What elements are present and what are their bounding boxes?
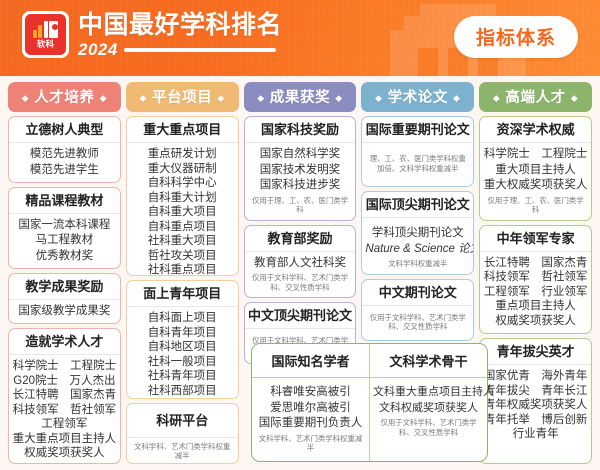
group-item: 文科权威奖项获奖人 bbox=[373, 401, 484, 417]
group-note: 文科学科、艺术门类学科权重减半 bbox=[255, 434, 366, 453]
logo-wordmark: 软科 bbox=[37, 39, 55, 49]
group-item: 自科重点项目 bbox=[130, 220, 235, 235]
group-item: 权威奖项获奖人 bbox=[12, 446, 117, 461]
group-item: 重点项目主持人 bbox=[483, 299, 588, 314]
group-card[interactable]: 科研平台 文科学科、艺术门类学科权重减半 bbox=[126, 403, 239, 464]
group-item: 爱思唯尔高被引 bbox=[255, 401, 366, 417]
group-item: 青年权威奖项获奖人 bbox=[483, 398, 588, 413]
group-item: 重大项目主持人 bbox=[483, 163, 588, 179]
diamond-icon: ◆ bbox=[335, 93, 343, 103]
group-title: 面上青年项目 bbox=[127, 281, 238, 307]
group-card[interactable]: 国际知名学者 科睿唯安高被引 爱思唯尔高被引 国际重要期刊负责人 文科学科、艺术… bbox=[252, 344, 369, 461]
group-item: 哲社攻关项目 bbox=[130, 249, 235, 264]
group-card[interactable]: 教学成果奖励 国家级教学成果奖 bbox=[8, 273, 121, 325]
shanghairanking-logo-icon: 软科 bbox=[22, 11, 69, 58]
group-item: 国际重要期刊负责人 bbox=[255, 416, 366, 432]
group-card[interactable]: 重大重点项目 重点研发计划 重大仪器研制 自科科学中心 自科重大计划 自科重大项… bbox=[126, 116, 239, 276]
group-item: 国家优青 海外青年 bbox=[483, 369, 588, 384]
group-title: 中文顶尖期刊论文 bbox=[245, 303, 356, 329]
group-item: 社科青年项目 bbox=[130, 369, 235, 384]
group-card[interactable]: 国际顶尖期刊论文 学科顶尖期刊论文 Nature & Science 论文 文科… bbox=[361, 191, 474, 275]
group-card[interactable]: 国家科技奖励 国家自然科学奖 国家技术发明奖 国家科技进步奖 仅用于理、工、农、… bbox=[244, 116, 357, 221]
group-item: 自科青年项目 bbox=[130, 326, 235, 341]
group-title: 文科学术骨干 bbox=[370, 344, 487, 378]
group-item: 国家技术发明奖 bbox=[248, 163, 353, 179]
group-item: 国家科技进步奖 bbox=[248, 178, 353, 194]
group-note: 仅用于理、工、农、医门类学科 bbox=[248, 196, 353, 215]
category-header-4: ◆学术论文◆ bbox=[361, 82, 474, 112]
title-rule bbox=[124, 48, 276, 52]
top-talent-wide-band: 国际知名学者 科睿唯安高被引 爱思唯尔高被引 国际重要期刊负责人 文科学科、艺术… bbox=[251, 343, 488, 462]
group-title: 教学成果奖励 bbox=[9, 274, 120, 300]
group-card[interactable]: 中文期刊论文 仅用于文科学科、艺术门类学科、交叉性质学科 bbox=[361, 279, 474, 341]
group-item: 重点研发计划 bbox=[130, 147, 235, 162]
diamond-icon: ◆ bbox=[257, 93, 265, 103]
group-item: 自科重大计划 bbox=[130, 191, 235, 206]
category-name-5: 高端人才 bbox=[505, 90, 565, 106]
group-item: 教育部人文社科奖 bbox=[248, 256, 353, 272]
group-item: 重大仪器研制 bbox=[130, 162, 235, 177]
category-name-1: 人才培养 bbox=[34, 90, 94, 106]
group-title: 国际重要期刊论文 bbox=[362, 117, 473, 143]
group-title: 中年领军专家 bbox=[480, 226, 591, 252]
group-item: 青年拔尖 青年长江 bbox=[483, 384, 588, 399]
diamond-icon: ◆ bbox=[571, 93, 579, 103]
group-item: 国家一流本科课程 bbox=[12, 218, 117, 234]
category-header-1: ◆人才培养◆ bbox=[8, 82, 121, 112]
group-item: 长江特聘 国家杰青 bbox=[12, 388, 117, 403]
group-item: 社科重大项目 bbox=[130, 234, 235, 249]
group-item: 科技领军 哲社领军 bbox=[483, 270, 588, 285]
group-note: 仅用于文科学科、艺术门类学科、交叉性质学科 bbox=[373, 418, 484, 437]
group-item: 社科西部项目 bbox=[130, 384, 235, 399]
group-card[interactable]: 国际重要期刊论文 理、工、农、医门类学科权重加倍、文科学科权重减半 bbox=[361, 116, 474, 187]
group-title: 青年拔尖英才 bbox=[480, 339, 591, 365]
group-title: 国际顶尖期刊论文 bbox=[362, 192, 473, 218]
group-item: 长江特聘 国家杰青 bbox=[483, 256, 588, 271]
group-note: 文科学科、艺术门类学科权重减半 bbox=[130, 442, 235, 461]
group-item: 工程领军 bbox=[12, 417, 117, 432]
group-item: 国家自然科学奖 bbox=[248, 147, 353, 163]
group-title: 资深学术权威 bbox=[480, 117, 591, 143]
category-header-5: ◆高端人才◆ bbox=[479, 82, 592, 112]
group-item: G20院士 万人杰出 bbox=[12, 374, 117, 389]
category-name-2: 平台项目 bbox=[152, 90, 212, 106]
group-item: 文科重大重点项目主持人 bbox=[373, 385, 484, 401]
group-item: 优秀教材奖 bbox=[12, 249, 117, 265]
group-item: 模范先进学生 bbox=[12, 163, 117, 179]
group-item: 科学院士 工程院士 bbox=[12, 359, 117, 374]
indicator-system-poster: 软科 中国最好学科排名 2024 指标体系 ◆人才培养◆ 立德树人典型 bbox=[0, 0, 600, 470]
category-column-platform-projects: ◆平台项目◆ 重大重点项目 重点研发计划 重大仪器研制 自科科学中心 自科重大计… bbox=[126, 82, 239, 464]
category-column-top-talent: ◆高端人才◆ 资深学术权威 科学院士 工程院士 重大项目主持人 重大权威奖项获奖… bbox=[479, 82, 592, 464]
group-item: 科睿唯安高被引 bbox=[255, 385, 366, 401]
group-card[interactable]: 造就学术人才 科学院士 工程院士 G20院士 万人杰出 长江特聘 国家杰青 科技… bbox=[8, 328, 121, 464]
diamond-icon: ◆ bbox=[217, 93, 225, 103]
group-item: 自科科学中心 bbox=[130, 176, 235, 191]
group-card[interactable]: 精品课程教材 国家一流本科课程 马工程教材 优秀教材奖 bbox=[8, 187, 121, 269]
group-title: 中文期刊论文 bbox=[362, 280, 473, 306]
group-item: 社科重点项目 bbox=[130, 263, 235, 276]
group-item: 自科面上项目 bbox=[130, 311, 235, 326]
group-item: 工程领军 行业领军 bbox=[483, 285, 588, 300]
group-item: 模范先进教师 bbox=[12, 147, 117, 163]
group-item: 行业青年 bbox=[483, 427, 588, 442]
group-note: 仅用于理、工、农、医门类学科 bbox=[483, 196, 588, 215]
group-title: 科研平台 bbox=[127, 404, 238, 438]
category-column-talent-cultivation: ◆人才培养◆ 立德树人典型 模范先进教师 模范先进学生 精品课程教材 国家一流本… bbox=[8, 82, 121, 464]
diamond-icon: ◆ bbox=[453, 93, 461, 103]
diamond-icon: ◆ bbox=[493, 93, 501, 103]
group-title: 造就学术人才 bbox=[9, 329, 120, 355]
diamond-icon: ◆ bbox=[22, 93, 30, 103]
group-card[interactable]: 立德树人典型 模范先进教师 模范先进学生 bbox=[8, 116, 121, 183]
group-item: 自科重大项目 bbox=[130, 205, 235, 220]
group-item: 学科顶尖期刊论文 bbox=[365, 226, 470, 242]
edition-year: 2024 bbox=[78, 41, 118, 59]
group-item: Nature & Science 论文 bbox=[365, 242, 470, 258]
brand-lockup: 软科 中国最好学科排名 2024 bbox=[22, 11, 282, 59]
group-card[interactable]: 青年拔尖英才 国家优青 海外青年 青年拔尖 青年长江 青年权威奖项获奖人 青年托… bbox=[479, 338, 592, 464]
category-header-3: ◆成果获奖◆ bbox=[244, 82, 357, 112]
indicator-system-badge: 指标体系 bbox=[454, 16, 578, 58]
group-title: 立德树人典型 bbox=[9, 117, 120, 143]
group-item: 重大重点项目主持人 bbox=[12, 432, 117, 447]
group-card[interactable]: 文科学术骨干 文科重大重点项目主持人 文科权威奖项获奖人 仅用于文科学科、艺术门… bbox=[369, 344, 487, 461]
group-title: 重大重点项目 bbox=[127, 117, 238, 143]
group-item: 青年托举 博后创新 bbox=[483, 413, 588, 428]
group-card[interactable]: 面上青年项目 自科面上项目 自科青年项目 自科地区项目 社科一般项目 社科青年项… bbox=[126, 280, 239, 399]
group-title: 国家科技奖励 bbox=[245, 117, 356, 143]
group-note: 理、工、农、医门类学科权重加倍、文科学科权重减半 bbox=[365, 154, 470, 173]
page-title: 中国最好学科排名 bbox=[78, 12, 282, 39]
group-note: 仅用于文科学科、艺术门类学科、交叉性质学科 bbox=[365, 313, 470, 332]
diamond-icon: ◆ bbox=[139, 93, 147, 103]
group-item: 科技领军 哲社领军 bbox=[12, 403, 117, 418]
group-item: 权威奖项获奖人 bbox=[483, 314, 588, 329]
category-header-2: ◆平台项目◆ bbox=[126, 82, 239, 112]
diamond-icon: ◆ bbox=[375, 93, 383, 103]
group-item: 自科地区项目 bbox=[130, 340, 235, 355]
group-item: 社科一般项目 bbox=[130, 355, 235, 370]
group-card[interactable]: 中年领军专家 长江特聘 国家杰青 科技领军 哲社领军 工程领军 行业领军 重点项… bbox=[479, 225, 592, 335]
group-card[interactable]: 教育部奖励 教育部人文社科奖 仅用于文科学科、艺术门类学科、交叉性质学科 bbox=[244, 225, 357, 299]
group-title: 国际知名学者 bbox=[252, 344, 369, 378]
group-item: 科学院士 工程院士 bbox=[483, 147, 588, 163]
group-title: 精品课程教材 bbox=[9, 188, 120, 214]
group-title: 教育部奖励 bbox=[245, 226, 356, 252]
diamond-icon: ◆ bbox=[100, 93, 108, 103]
group-item: 马工程教材 bbox=[12, 233, 117, 249]
page-header: 软科 中国最好学科排名 2024 指标体系 bbox=[0, 0, 600, 76]
category-name-4: 学术论文 bbox=[388, 90, 448, 106]
group-item: 国家级教学成果奖 bbox=[12, 304, 117, 320]
category-name-3: 成果获奖 bbox=[270, 90, 330, 106]
group-card[interactable]: 资深学术权威 科学院士 工程院士 重大项目主持人 重大权威奖项获奖人 仅用于理、… bbox=[479, 116, 592, 221]
group-item: 重大权威奖项获奖人 bbox=[483, 178, 588, 194]
group-note: 文科学科权重减半 bbox=[365, 259, 470, 269]
group-note: 仅用于文科学科、艺术门类学科、交叉性质学科 bbox=[248, 273, 353, 292]
